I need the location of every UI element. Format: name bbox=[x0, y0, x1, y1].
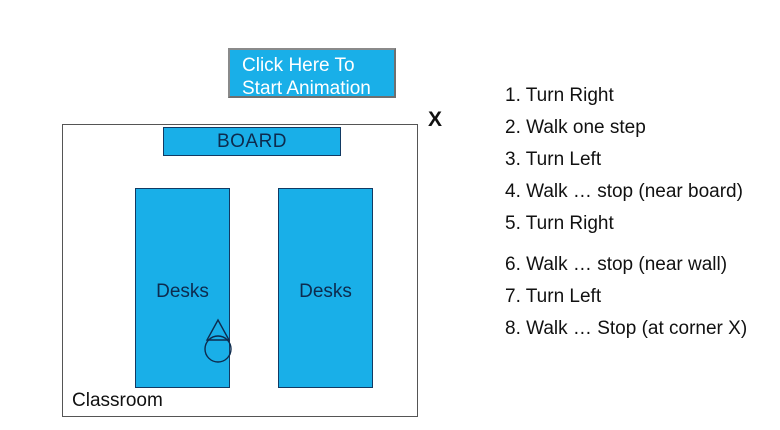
animation-lesson-canvas: Click Here To Start Animation BOARD Desk… bbox=[0, 0, 780, 430]
instruction-step-2: 2. Walk one step bbox=[505, 112, 780, 144]
desk-block-left: Desks bbox=[135, 188, 230, 388]
instruction-step-list: 1. Turn Right 2. Walk one step 3. Turn L… bbox=[505, 80, 780, 345]
instruction-step-6: 6. Walk … stop (near wall) bbox=[505, 249, 780, 281]
classroom-label: Classroom bbox=[72, 390, 163, 412]
instruction-step-7: 7. Turn Left bbox=[505, 281, 780, 313]
desk-block-right: Desks bbox=[278, 188, 373, 388]
desk-label-right: Desks bbox=[279, 281, 372, 303]
instruction-step-3: 3. Turn Left bbox=[505, 144, 780, 176]
corner-x-marker: X bbox=[428, 108, 442, 132]
start-animation-button[interactable]: Click Here To Start Animation bbox=[228, 48, 396, 98]
desk-label-left: Desks bbox=[136, 281, 229, 303]
instruction-step-5: 5. Turn Right bbox=[505, 208, 780, 240]
instruction-step-8: 8. Walk … Stop (at corner X) bbox=[505, 313, 780, 345]
board-shape: BOARD bbox=[163, 127, 341, 156]
instruction-step-4: 4. Walk … stop (near board) bbox=[505, 176, 780, 208]
start-animation-button-line2: Start Animation bbox=[242, 77, 394, 100]
start-animation-button-line1: Click Here To bbox=[242, 54, 394, 77]
instruction-step-1: 1. Turn Right bbox=[505, 80, 780, 112]
board-label: BOARD bbox=[217, 131, 287, 153]
